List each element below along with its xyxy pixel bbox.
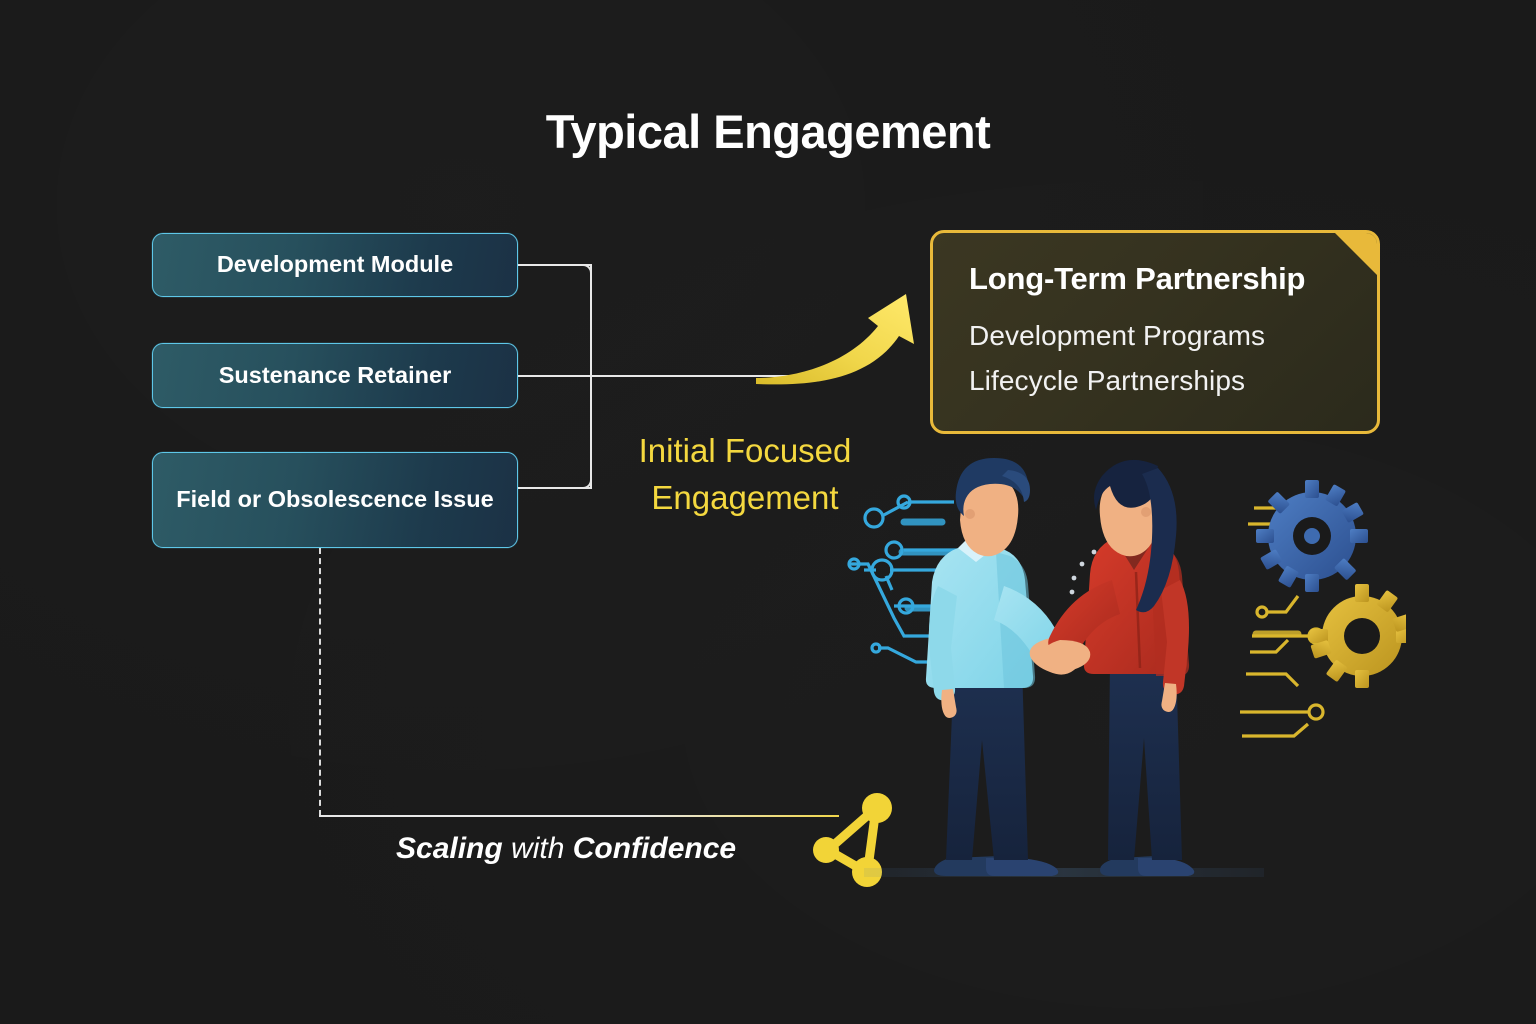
card-line-lifecycle-partnerships: Lifecycle Partnerships — [969, 358, 1377, 403]
handshake-illustration — [846, 440, 1406, 910]
gear-icon — [1256, 480, 1368, 592]
connector-corner-bottom — [572, 469, 592, 489]
caption-scaling-word-2: with — [511, 832, 564, 865]
source-box-sustenance-retainer[interactable]: Sustenance Retainer — [152, 343, 518, 408]
source-box-field-or-obsolescence-issue[interactable]: Field or Obsolescence Issue — [152, 452, 518, 548]
source-box-label: Sustenance Retainer — [219, 360, 451, 391]
source-box-label: Development Module — [217, 249, 453, 280]
connector-stub-box-2 — [518, 375, 592, 377]
source-box-label: Field or Obsolescence Issue — [176, 484, 493, 515]
card-title: Long-Term Partnership — [969, 261, 1377, 297]
source-box-development-module[interactable]: Development Module — [152, 233, 518, 297]
connector-scaling-baseline — [319, 815, 839, 817]
connector-dashed-drop-line — [319, 548, 321, 816]
curved-up-right-arrow-icon — [756, 286, 946, 392]
page-title: Typical Engagement — [0, 104, 1536, 159]
engagement-diagram: Typical Engagement Development Module Su… — [0, 0, 1536, 1024]
long-term-partnership-card[interactable]: Long-Term Partnership Development Progra… — [930, 230, 1380, 434]
gear-icon — [1310, 584, 1406, 688]
caption-scaling-word-1: Scaling — [396, 832, 503, 865]
caption-scaling-word-3: Confidence — [573, 832, 736, 865]
caption-scaling-with-confidence: Scaling with Confidence — [396, 832, 736, 866]
figure-woman — [1041, 460, 1194, 876]
card-line-development-programs: Development Programs — [969, 313, 1377, 358]
connector-corner-top — [572, 264, 592, 284]
